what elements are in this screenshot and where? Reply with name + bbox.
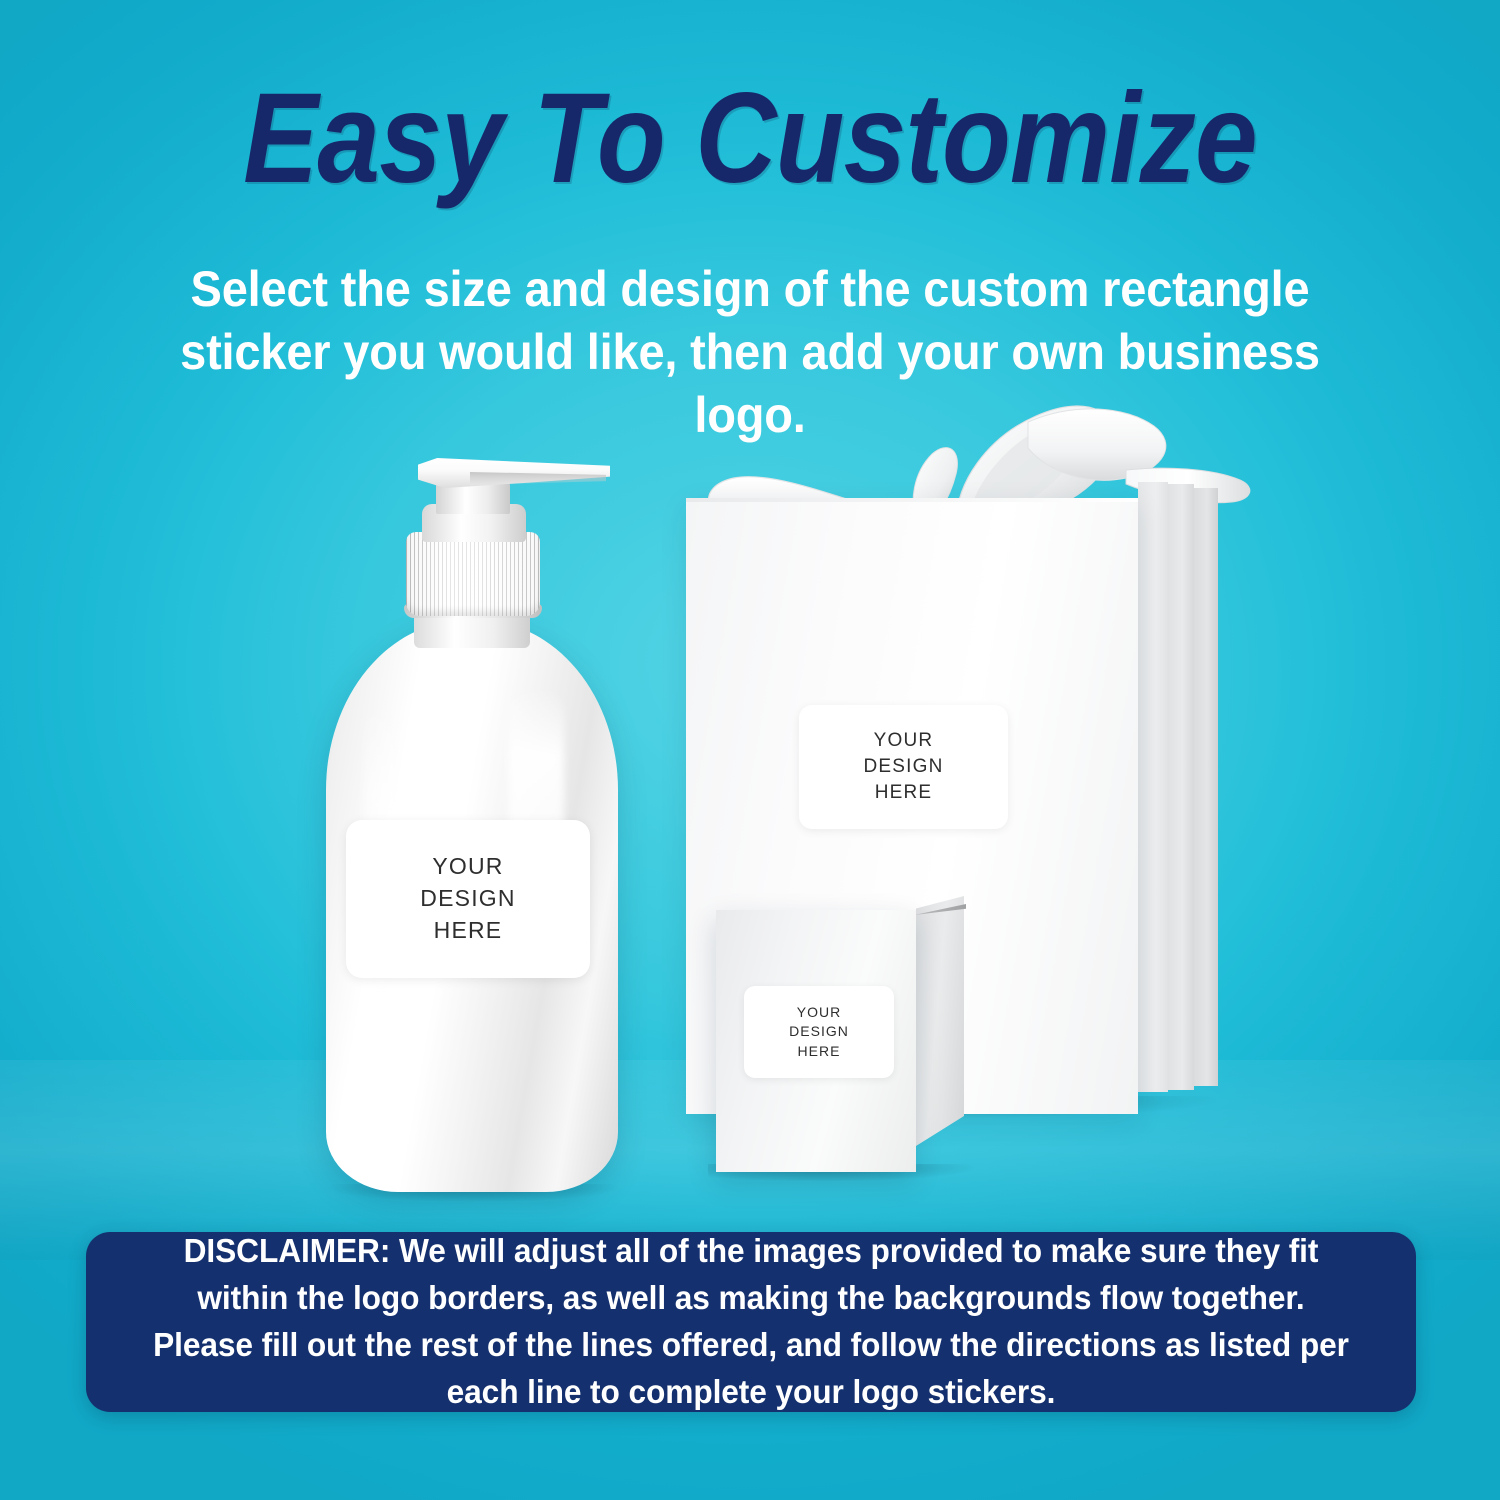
sticker-bottle[interactable]: YOUR DESIGN HERE	[346, 820, 590, 978]
promo-graphic: Easy To Customize Select the size and de…	[0, 0, 1500, 1500]
sticker-smallbox[interactable]: YOUR DESIGN HERE	[744, 986, 894, 1078]
disclaimer-text: DISCLAIMER: We will adjust all of the im…	[147, 1228, 1355, 1415]
disclaimer-label: DISCLAIMER:	[184, 1232, 391, 1269]
bottle-ribbed-collar	[406, 532, 540, 616]
sticker-bottle-label: YOUR DESIGN HERE	[420, 851, 515, 946]
gift-box-side-panel-c	[1194, 488, 1218, 1086]
sticker-giftbox[interactable]: YOUR DESIGN HERE	[799, 705, 1008, 829]
page-title: Easy To Customize	[90, 74, 1410, 205]
sticker-smallbox-label: YOUR DESIGN HERE	[789, 1003, 849, 1061]
disclaimer-banner: DISCLAIMER: We will adjust all of the im…	[86, 1232, 1416, 1412]
small-box-side-panel	[916, 896, 964, 1146]
gift-box-side-panel-b	[1168, 484, 1194, 1090]
gift-box-side-panel-a	[1138, 482, 1168, 1092]
sticker-giftbox-label: YOUR DESIGN HERE	[863, 728, 943, 807]
gift-box-top-edge	[686, 498, 1138, 502]
